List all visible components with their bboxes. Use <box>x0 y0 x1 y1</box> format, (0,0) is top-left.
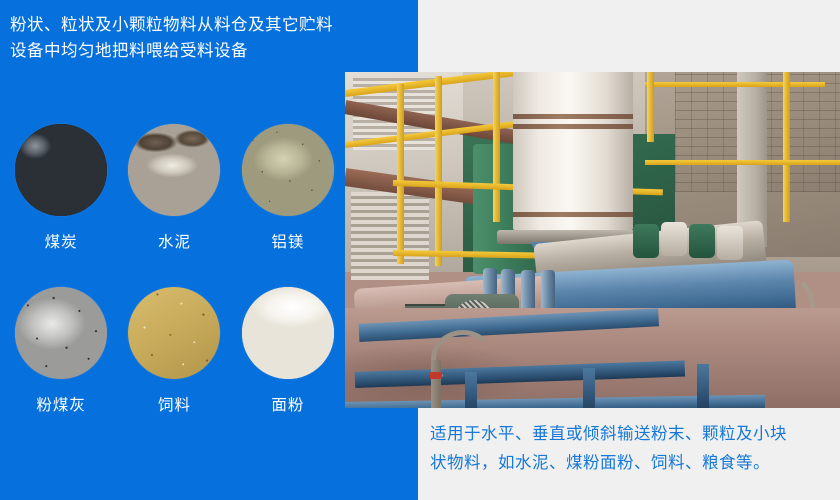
product-photo <box>345 72 840 408</box>
material-label: 铝镁 <box>236 230 340 252</box>
material-item-flour[interactable]: 面粉 <box>236 287 340 415</box>
material-item-cement[interactable]: 水泥 <box>122 124 226 252</box>
material-label: 面粉 <box>236 393 340 415</box>
material-label: 饲料 <box>122 393 226 415</box>
flour-swatch-icon <box>242 287 334 379</box>
material-label: 粉煤灰 <box>9 393 113 415</box>
coal-swatch-icon <box>15 124 107 216</box>
material-item-fly-ash[interactable]: 粉煤灰 <box>9 287 113 415</box>
headline-text: 粉状、粒状及小颗粒物料从料仓及其它贮料 设备中均匀地把料喂给受料设备 <box>10 12 410 64</box>
feed-swatch-icon <box>128 287 220 379</box>
fly-ash-swatch-icon <box>15 287 107 379</box>
material-item-coal[interactable]: 煤炭 <box>9 124 113 252</box>
material-item-feed[interactable]: 饲料 <box>122 287 226 415</box>
material-row-1: 煤炭 水泥 铝镁 <box>0 124 340 252</box>
page-root: 粉状、粒状及小颗粒物料从料仓及其它贮料 设备中均匀地把料喂给受料设备 煤炭 水泥 <box>0 0 840 500</box>
material-label: 水泥 <box>122 230 226 252</box>
cement-swatch-icon <box>128 124 220 216</box>
caption-text: 适用于水平、垂直或倾斜输送粉末、颗粒及小块 状物料，如水泥、煤粉面粉、饲料、粮食… <box>430 420 830 478</box>
material-label: 煤炭 <box>9 230 113 252</box>
aluminum-magnesium-swatch-icon <box>242 124 334 216</box>
material-grid: 煤炭 水泥 铝镁 <box>0 124 340 415</box>
material-row-2: 粉煤灰 饲料 面粉 <box>0 287 340 415</box>
top-right-background <box>418 0 840 72</box>
material-item-aluminum-magnesium[interactable]: 铝镁 <box>236 124 340 252</box>
